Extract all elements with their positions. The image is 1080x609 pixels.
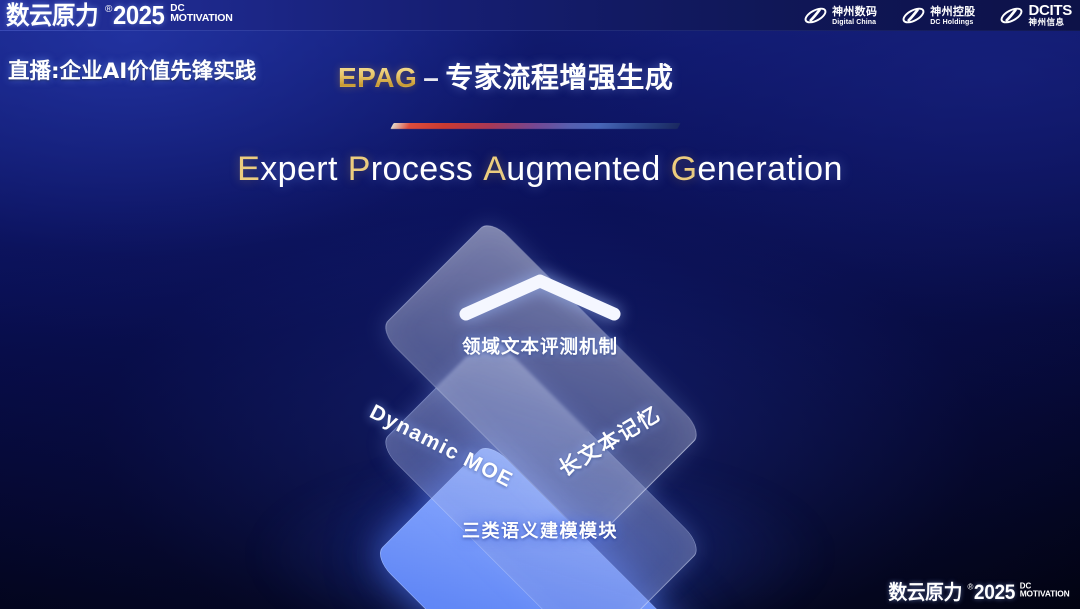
subtitle-cap-e: E [237, 150, 260, 188]
slide-canvas: 数云原力 ® 2025 DC MOTIVATION 神州数码 Digital C… [0, 0, 1080, 609]
subtitle-rest-generation: eneration [697, 150, 842, 188]
subtitle-cap-a: A [483, 150, 506, 188]
chevron-up-icon [458, 272, 622, 322]
partner-logo-dcits: DCITS 神州信息 [999, 3, 1072, 28]
swirl-logo-icon [803, 3, 828, 28]
partner-logo-group: 神州数码 Digital China 神州控股 DC Holdings DCIT… [803, 3, 1072, 28]
subtitle: Expert Process Augmented Generation [0, 150, 1080, 189]
swirl-logo-icon [999, 3, 1024, 28]
title-dash: – [423, 62, 439, 93]
brand-dc-line2: MOTIVATION [1020, 590, 1070, 599]
subtitle-rest-expert: xpert [260, 150, 338, 188]
partner-logo-dc-holdings: 神州控股 DC Holdings [901, 3, 975, 28]
subtitle-cap-p: P [348, 150, 371, 188]
gradient-divider [390, 123, 680, 129]
partner-logo-digital-china: 神州数码 Digital China [803, 3, 877, 28]
live-stream-banner: 直播:企业AI价值先锋实践 [8, 54, 256, 85]
subtitle-cap-g: G [671, 150, 698, 188]
partner-label: 神州控股 DC Holdings [930, 6, 975, 26]
subtitle-rest-augmented: ugmented [506, 150, 660, 188]
title-acronym: EPAG [338, 62, 417, 93]
subtitle-rest-process: rocess [371, 150, 474, 188]
partner-name-en: DC Holdings [930, 19, 975, 26]
layer-stack-diagram: 领域文本评测机制 Dynamic MOE 长文本记忆 三类语义建模模块 [0, 210, 1080, 590]
page-title: EPAG–专家流程增强生成 [338, 56, 673, 96]
partner-label: DCITS 神州信息 [1028, 3, 1072, 28]
partner-name-cn: 神州控股 [930, 6, 975, 17]
title-chinese: 专家流程增强生成 [445, 61, 673, 94]
partner-name-en: Digital China [832, 19, 877, 26]
partner-name-cn: 神州数码 [832, 6, 877, 17]
partner-name-cn: 神州信息 [1028, 19, 1072, 28]
partner-name-en: DCITS [1028, 3, 1072, 18]
partner-label: 神州数码 Digital China [832, 6, 877, 26]
swirl-logo-icon [901, 3, 926, 28]
